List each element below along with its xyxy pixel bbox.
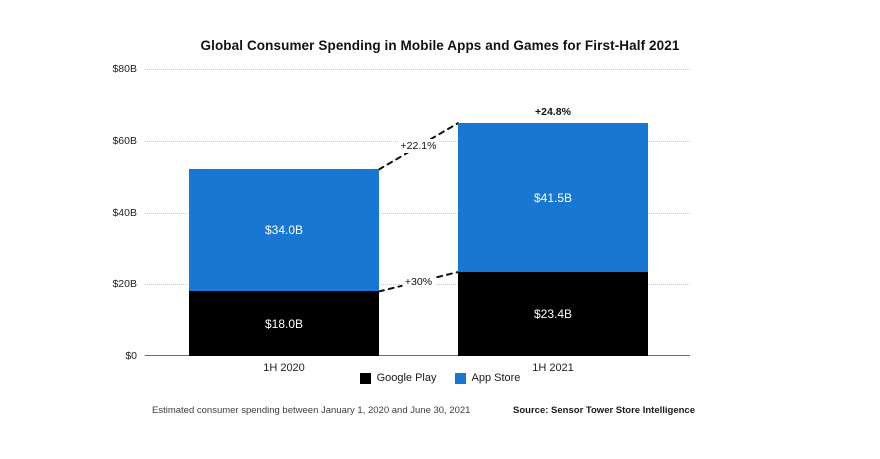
bar-value-label: $18.0B <box>189 317 379 331</box>
chart-legend: Google PlayApp Store <box>0 372 880 384</box>
y-axis-tick-label: $20B <box>77 278 137 290</box>
bar-value-label: $41.5B <box>458 191 648 205</box>
bar-segment-app-store[interactable]: $41.5B <box>458 123 648 272</box>
google-play-growth-label: +30% <box>402 275 435 289</box>
gridline <box>145 69 690 70</box>
source-attribution: Source: Sensor Tower Store Intelligence <box>513 405 695 416</box>
bar-value-label: $23.4B <box>458 307 648 321</box>
y-axis-tick-labels: $0$20B$40B$60B$80B <box>75 69 137 356</box>
bar-stack-1h-2021[interactable]: $23.4B$41.5B <box>458 123 648 356</box>
bar-segment-google-play[interactable]: $23.4B <box>458 272 648 356</box>
y-axis-tick-label: $80B <box>77 63 137 75</box>
bar-segment-app-store[interactable]: $34.0B <box>189 169 379 291</box>
y-axis-tick-label: $40B <box>77 207 137 219</box>
y-axis-tick-label: $60B <box>77 135 137 147</box>
legend-swatch-icon <box>455 373 466 384</box>
y-axis-tick-label: $0 <box>77 350 137 362</box>
app-store-growth-label: +22.1% <box>398 139 440 153</box>
total-growth-annotation: +24.8% <box>458 106 648 118</box>
legend-label: Google Play <box>377 372 437 384</box>
chart-title: Global Consumer Spending in Mobile Apps … <box>0 38 880 53</box>
chart-canvas: Global Consumer Spending in Mobile Apps … <box>0 0 880 459</box>
bar-stack-1h-2020[interactable]: $18.0B$34.0B <box>189 169 379 356</box>
x-axis-tick-label: 1H 2020 <box>189 362 379 374</box>
footnote-text: Estimated consumer spending between Janu… <box>152 405 470 416</box>
bar-value-label: $34.0B <box>189 223 379 237</box>
legend-swatch-icon <box>360 373 371 384</box>
x-axis-tick-label: 1H 2021 <box>458 362 648 374</box>
bar-segment-google-play[interactable]: $18.0B <box>189 291 379 356</box>
